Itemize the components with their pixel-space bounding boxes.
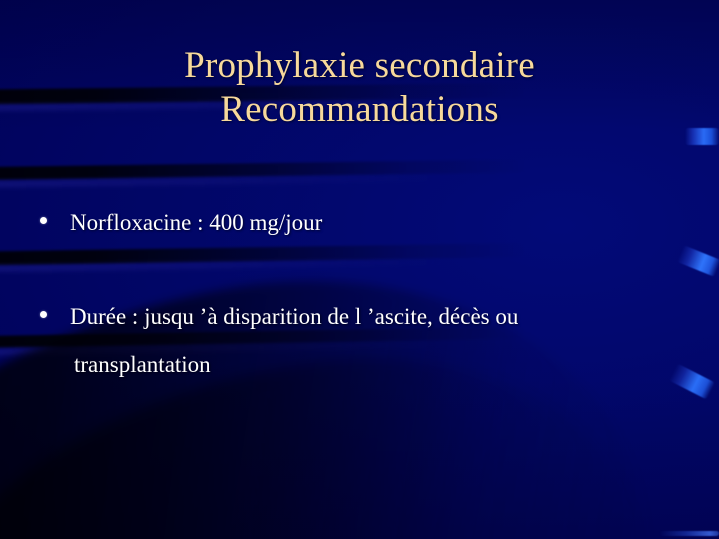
slide-content: Prophylaxie secondaire Recommandations N…	[0, 0, 719, 539]
slide-body: Norfloxacine : 400 mg/jour Durée : jusqu…	[0, 208, 719, 380]
slide-title-line-1: Prophylaxie secondaire	[0, 44, 719, 88]
slide-title-line-2: Recommandations	[0, 88, 719, 132]
bullet-item-duree-continuation: transplantation	[0, 350, 719, 380]
slide-title: Prophylaxie secondaire Recommandations	[0, 44, 719, 132]
bullet-dot-icon	[40, 217, 47, 224]
bullet-dot-icon	[40, 311, 47, 318]
bullet-item-duree: Durée : jusqu ’à disparition de l ’ascit…	[0, 302, 719, 332]
bullet-item-label: Durée : jusqu ’à disparition de l ’ascit…	[70, 302, 719, 332]
bullet-item-norfloxacine: Norfloxacine : 400 mg/jour	[0, 208, 719, 238]
presentation-slide: Prophylaxie secondaire Recommandations N…	[0, 0, 719, 539]
bullet-item-label: Norfloxacine : 400 mg/jour	[70, 208, 719, 238]
